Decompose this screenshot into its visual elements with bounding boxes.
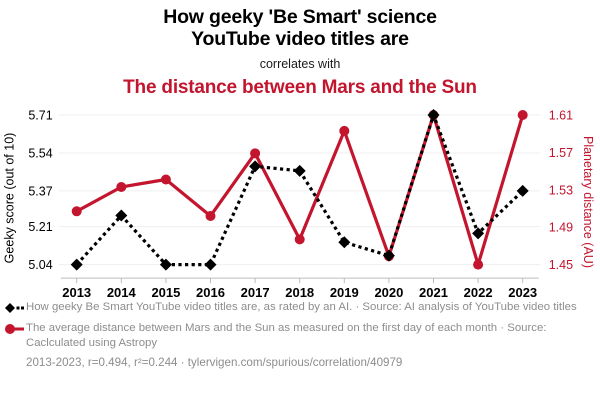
chart-svg: 5.045.215.375.545.711.451.491.531.571.61… (0, 100, 600, 300)
data-point-planetary-distance (339, 126, 349, 136)
left-axis-tick-label: 5.04 (28, 258, 52, 272)
data-point-planetary-distance (161, 175, 171, 185)
data-point-geeky-score (71, 259, 83, 271)
page-title-line-1: How geeky 'Be Smart' science (0, 6, 600, 28)
data-point-geeky-score (383, 250, 395, 262)
data-point-planetary-distance (518, 110, 528, 120)
right-axis-tick-label: 1.53 (549, 183, 573, 197)
right-axis-tick-label: 1.61 (549, 109, 573, 123)
title-block: How geeky 'Be Smart' science YouTube vid… (0, 6, 600, 99)
data-point-planetary-distance (250, 148, 260, 158)
correlates-with-label: correlates with (0, 57, 600, 71)
x-axis-tick-label: 2022 (464, 285, 493, 300)
data-point-planetary-distance (206, 211, 216, 221)
data-point-geeky-score (517, 185, 529, 197)
x-axis-tick-label: 2019 (330, 285, 359, 300)
legend-item-planetary-distance-label: The average distance between Mars and th… (26, 321, 578, 350)
x-axis-tick-label: 2014 (107, 285, 137, 300)
page-title-line-2: YouTube video titles are (0, 28, 600, 50)
chart-area: 5.045.215.375.545.711.451.491.531.571.61… (0, 100, 600, 300)
page-subtitle: The distance between Mars and the Sun (0, 77, 600, 99)
x-axis-tick-label: 2018 (285, 285, 314, 300)
right-axis-tick-label: 1.49 (549, 221, 573, 235)
spurious-correlation-chart-page: How geeky 'Be Smart' science YouTube vid… (0, 0, 600, 414)
x-axis-tick-label: 2020 (374, 285, 403, 300)
x-axis-tick-label: 2023 (508, 285, 537, 300)
x-axis-tick-label: 2021 (419, 285, 448, 300)
circle-solid-marker-icon (4, 322, 26, 338)
right-axis-tick-label: 1.45 (549, 258, 573, 272)
legend-item-geeky-score: How geeky Be Smart YouTube video titles … (4, 300, 600, 317)
legend-item-geeky-score-label: How geeky Be Smart YouTube video titles … (26, 300, 578, 315)
source-and-stats-line: 2013-2023, r=0.494, r²=0.244 · tylervige… (26, 355, 600, 370)
diamond-dotted-marker-icon (4, 301, 26, 317)
data-point-geeky-score (428, 109, 440, 121)
data-point-planetary-distance (295, 234, 305, 244)
x-axis-tick-label: 2017 (241, 285, 270, 300)
right-axis-tick-label: 1.57 (549, 146, 573, 160)
left-axis-tick-label: 5.21 (28, 220, 52, 234)
chart-footer: How geeky Be Smart YouTube video titles … (0, 300, 600, 370)
left-axis-tick-label: 5.71 (28, 109, 52, 123)
x-axis-tick-label: 2015 (151, 285, 180, 300)
left-axis-tick-label: 5.54 (28, 146, 52, 160)
legend-item-planetary-distance: The average distance between Mars and th… (4, 321, 600, 350)
x-axis-tick-label: 2016 (196, 285, 225, 300)
data-point-geeky-score (205, 259, 217, 271)
left-axis-tick-label: 5.37 (28, 184, 52, 198)
data-point-planetary-distance (473, 260, 483, 270)
data-point-planetary-distance (116, 182, 126, 192)
data-point-planetary-distance (72, 206, 82, 216)
data-point-geeky-score (294, 165, 306, 177)
data-point-geeky-score (338, 236, 350, 248)
x-axis-tick-label: 2013 (62, 285, 91, 300)
page-title: How geeky 'Be Smart' science YouTube vid… (0, 6, 600, 50)
